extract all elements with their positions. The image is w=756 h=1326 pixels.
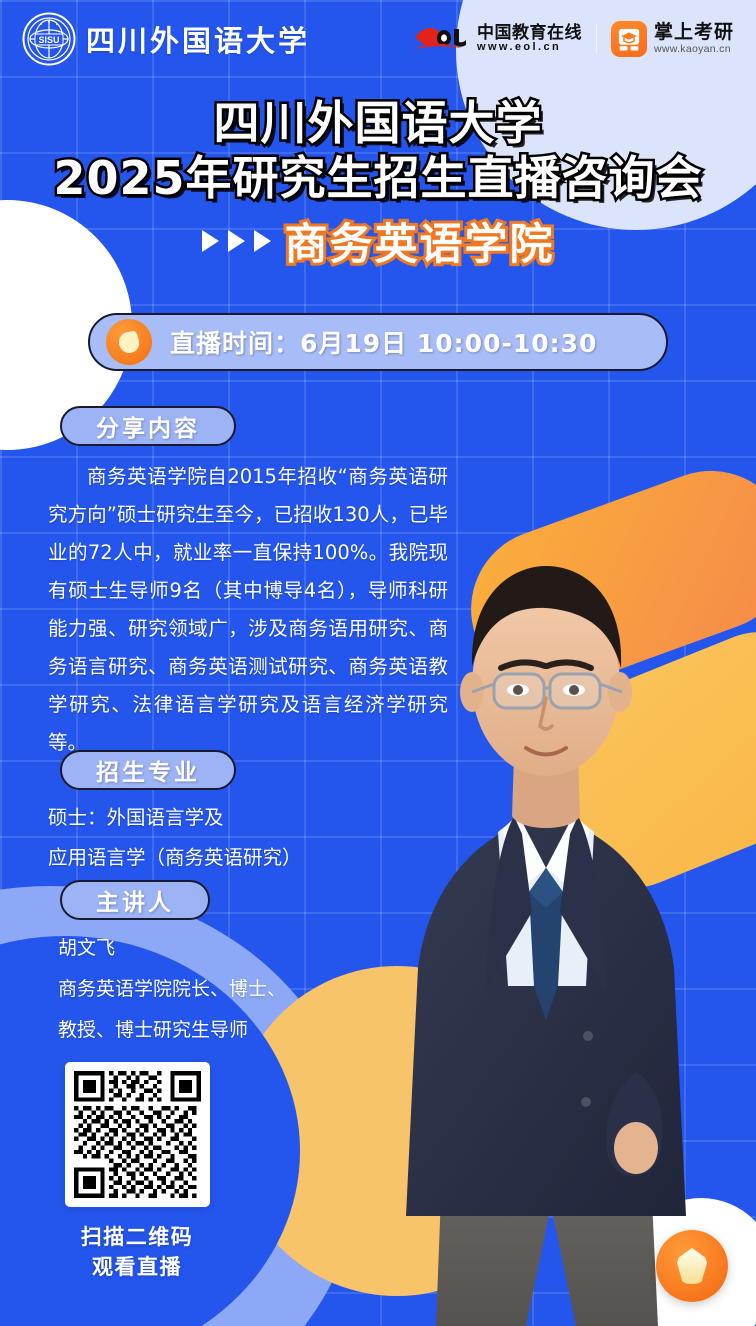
major-lines: 硕士：外国语言学及 应用语言学（商务英语研究） <box>48 798 448 878</box>
share-paragraph: 商务英语学院自2015年招收“商务英语研究方向”硕士研究生至今，已招收130人，… <box>48 458 448 762</box>
eol-url: www.eol.cn <box>477 42 582 54</box>
eol-mark-icon <box>414 22 470 56</box>
speaker-label-pill: 主讲人 <box>60 880 210 920</box>
section-label-major: 招生专业 <box>60 750 236 790</box>
major-label-pill: 招生专业 <box>60 750 236 790</box>
title-line-3: 商务英语学院 <box>285 210 555 272</box>
eol-logo: 中国教育在线 www.eol.cn <box>414 22 582 56</box>
qr-code[interactable] <box>65 1062 210 1207</box>
university-name: 四川外国语大学 <box>86 18 310 60</box>
brand-drop-icon <box>656 1230 728 1302</box>
title-line-1: 四川外国语大学 <box>0 96 756 150</box>
play-circle-icon <box>106 319 152 365</box>
graduation-cap-icon <box>611 21 647 57</box>
speaker-title-line-1: 商务英语学院院长、博士、 <box>58 969 438 1010</box>
poster-root: SISU 四川外国语大学 <box>0 0 756 1326</box>
university-logo: SISU 四川外国语大学 <box>22 12 310 66</box>
eol-text-block: 中国教育在线 www.eol.cn <box>477 24 582 53</box>
kaoyan-name: 掌上考研 <box>654 23 734 44</box>
page-header: SISU 四川外国语大学 <box>0 0 756 78</box>
kaoyan-url: www.kaoyan.cn <box>654 44 734 56</box>
major-line-1: 硕士：外国语言学及 <box>48 798 448 838</box>
speaker-lines: 胡文飞 商务英语学院院长、博士、 教授、博士研究生导师 <box>58 928 438 1051</box>
partner-logos: 中国教育在线 www.eol.cn 掌上考研 w <box>414 21 734 57</box>
sisu-emblem-icon: SISU <box>22 12 76 66</box>
partner-divider <box>596 24 597 54</box>
speaker-name: 胡文飞 <box>58 928 438 969</box>
qr-caption: 扫描二维码 观看直播 <box>42 1222 232 1283</box>
share-label-pill: 分享内容 <box>60 406 236 446</box>
title-line-3-row: 商务英语学院 <box>0 210 756 272</box>
section-label-share: 分享内容 <box>60 406 236 446</box>
live-time-text: 直播时间：6月19日 10:00-10:30 <box>170 324 597 360</box>
svg-text:SISU: SISU <box>38 35 59 45</box>
qr-caption-line-2: 观看直播 <box>42 1252 232 1282</box>
eol-name: 中国教育在线 <box>477 24 582 42</box>
kaoyan-text-block: 掌上考研 www.kaoyan.cn <box>654 23 734 55</box>
live-time-banner: 直播时间：6月19日 10:00-10:30 <box>88 313 668 371</box>
section-label-speaker: 主讲人 <box>60 880 210 920</box>
triangle-arrows-icon <box>202 230 271 252</box>
speaker-title-line-2: 教授、博士研究生导师 <box>58 1010 438 1051</box>
major-line-2: 应用语言学（商务英语研究） <box>48 838 448 878</box>
kaoyan-logo: 掌上考研 www.kaoyan.cn <box>611 21 734 57</box>
poster-title-block: 四川外国语大学 2025年研究生招生直播咨询会 商务英语学院 <box>0 96 756 272</box>
qr-caption-line-1: 扫描二维码 <box>42 1222 232 1252</box>
title-line-2: 2025年研究生招生直播咨询会 <box>0 150 756 206</box>
